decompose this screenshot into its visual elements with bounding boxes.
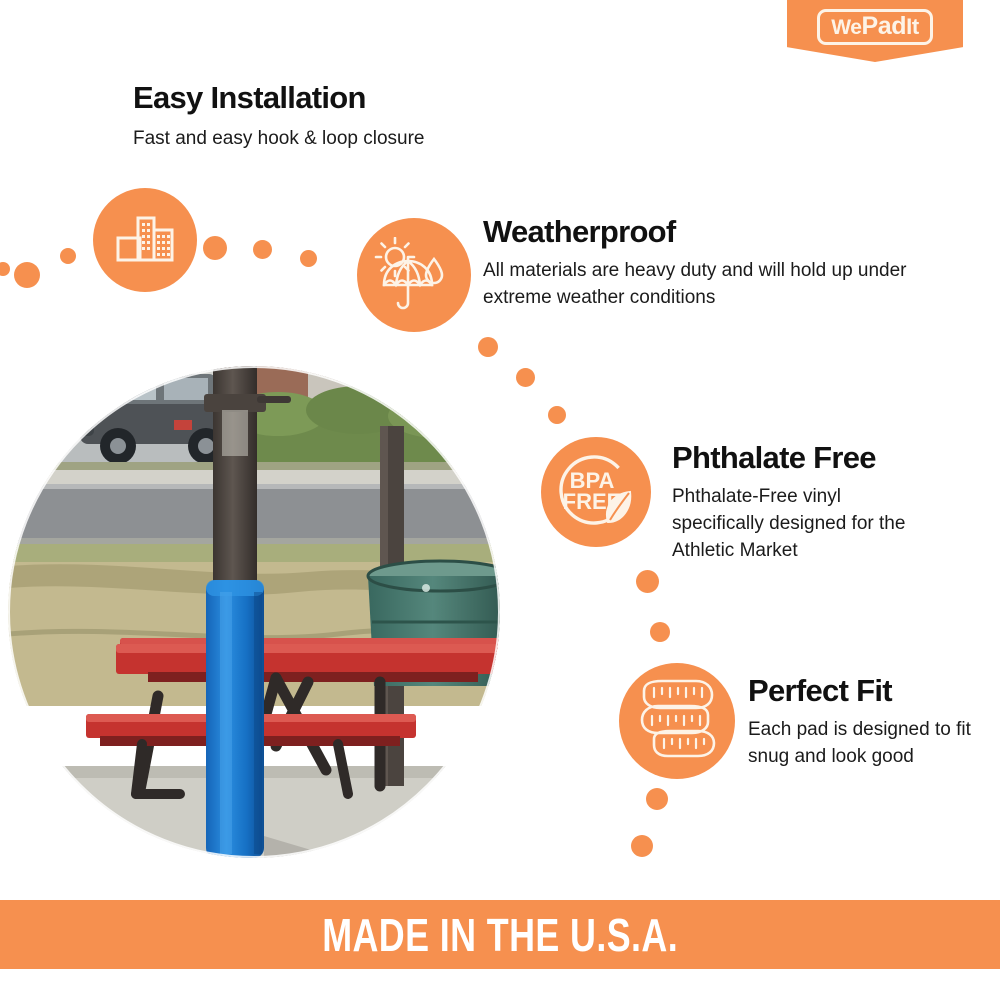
product-photo-illustration [8, 366, 500, 858]
trail-dot [548, 406, 566, 424]
feature-icon-phthalate-free[interactable]: BPA FREE [541, 437, 651, 547]
trail-dot [300, 250, 317, 267]
trail-dot [0, 262, 10, 276]
feature-description-phthalate-free: Phthalate-Free vinyl specifically design… [672, 484, 938, 565]
trail-dot [253, 240, 272, 259]
brand-logo-text: WePadIt [831, 14, 919, 39]
feature-description-weatherproof: All materials are heavy duty and will ho… [483, 258, 913, 312]
brand-logo-frame: WePadIt [817, 9, 933, 45]
product-photo [8, 366, 500, 858]
trail-dot [636, 570, 659, 593]
trail-dot [203, 236, 227, 260]
feature-icon-easy-installation[interactable] [93, 188, 197, 292]
measuring-tape-icon [634, 675, 720, 767]
feature-icon-perfect-fit[interactable] [619, 663, 735, 779]
feature-title-easy-installation: Easy Installation [133, 80, 366, 116]
trail-dot [478, 337, 498, 357]
trail-dot [646, 788, 668, 810]
trail-dot [516, 368, 535, 387]
feature-title-weatherproof: Weatherproof [483, 214, 676, 250]
infographic-page: WePadIt Easy Installation Fast and easy … [0, 0, 1000, 987]
trail-dot [60, 248, 76, 264]
feature-icon-weatherproof[interactable] [357, 218, 471, 332]
feature-title-perfect-fit: Perfect Fit [748, 673, 892, 709]
brand-logo-badge[interactable]: WePadIt [787, 0, 963, 62]
umbrella-sun-rain-icon [374, 237, 454, 313]
building-icon [114, 212, 176, 268]
brand-logo-text-it: It [906, 14, 919, 39]
brand-logo-text-we: We [831, 16, 861, 39]
feature-title-phthalate-free: Phthalate Free [672, 440, 876, 476]
made-in-usa-text: MADE IN THE U.S.A. [322, 908, 678, 962]
bpa-free-leaf-icon: BPA FREE [546, 442, 646, 542]
feature-description-easy-installation: Fast and easy hook & loop closure [133, 126, 553, 153]
brand-logo-text-pad: Pad [862, 12, 907, 40]
trail-dot [14, 262, 40, 288]
feature-description-perfect-fit: Each pad is designed to fit snug and loo… [748, 717, 978, 771]
trail-dot [631, 835, 653, 857]
trail-dot [650, 622, 670, 642]
made-in-usa-banner: MADE IN THE U.S.A. [0, 900, 1000, 969]
